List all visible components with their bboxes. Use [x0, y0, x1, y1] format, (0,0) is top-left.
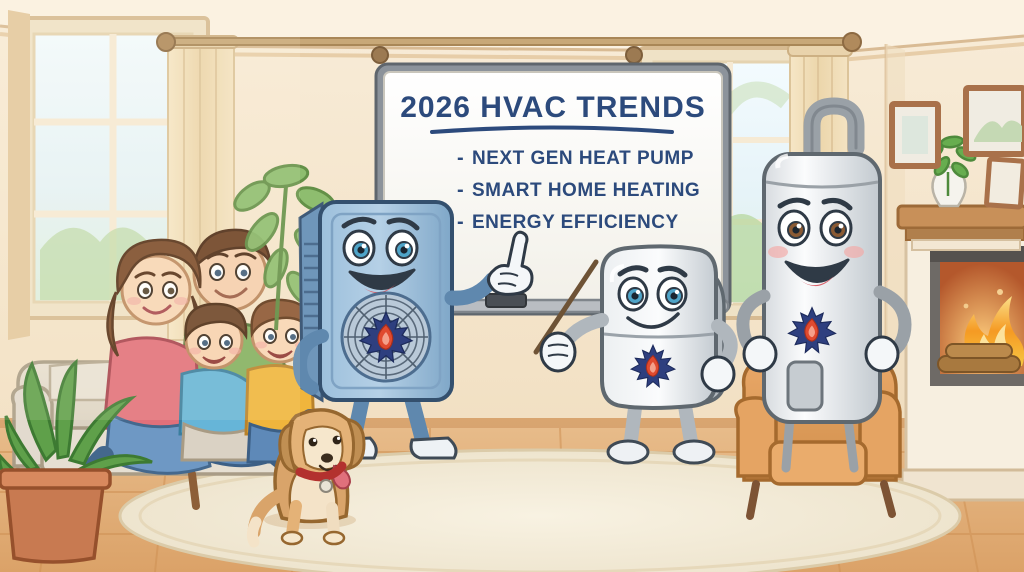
water-heater-hand-left [744, 337, 776, 371]
mantel-photo-frame [986, 159, 1023, 207]
water-heater-access-panel [788, 362, 822, 410]
water-heater-cheek-left [768, 246, 788, 258]
fireplace-logs [938, 344, 1020, 372]
mantel [898, 206, 1024, 250]
whiteboard-item-0: - NEXT GEN HEAT PUMP [457, 147, 694, 169]
whiteboard-item-1: - SMART HOME HEATING [457, 179, 700, 201]
whiteboard-item-2: - ENERGY EFFICIENCY [457, 211, 679, 233]
fireplace [898, 206, 1024, 500]
whiteboard-item-label: ENERGY EFFICIENCY [472, 212, 679, 233]
whiteboard-bullet: - [457, 179, 464, 201]
heat-pump-shoe-right [411, 438, 456, 458]
whiteboard-title: 2026 HVAC TRENDS [400, 91, 706, 124]
board-eraser [486, 294, 526, 307]
window-light-wash [0, 0, 300, 420]
water-heater-cheek-right [844, 246, 864, 258]
furnace-hand-left [541, 333, 575, 371]
whiteboard-item-label: SMART HOME HEATING [472, 180, 700, 201]
whiteboard-bullet: - [457, 211, 464, 233]
whiteboard-item-label: NEXT GEN HEAT PUMP [472, 148, 694, 169]
dog-tag [320, 480, 332, 492]
water-heater-hand-right [866, 337, 898, 371]
whiteboard-bullet: - [457, 147, 464, 169]
furnace-hand-right [702, 357, 734, 391]
furnace-foot-left [608, 441, 648, 463]
hvac-trends-illustration: 2026 HVAC TRENDS - NEXT GEN HEAT PUMP - … [0, 0, 1024, 572]
furnace-foot-right [674, 441, 714, 463]
